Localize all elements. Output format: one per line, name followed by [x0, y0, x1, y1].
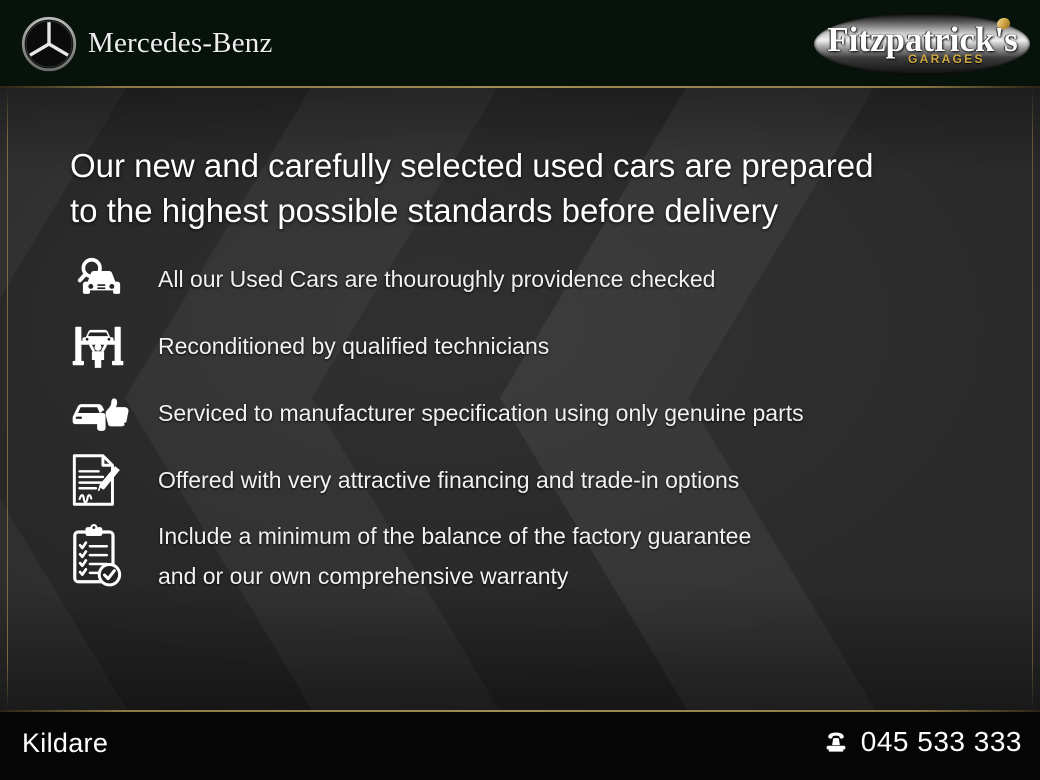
car-thumbs-up-icon	[66, 382, 158, 444]
dealer-logo[interactable]: Fitzpatrick's GARAGES	[812, 5, 1032, 81]
footer-contact[interactable]: 045 533 333	[823, 726, 1022, 758]
list-item-line-1: Serviced to manufacturer specification u…	[158, 400, 804, 426]
dealer-promo-slide: Mercedes-Benz Fitzpatrick's GARAGES Our …	[0, 0, 1040, 780]
car-magnifier-icon	[66, 248, 158, 310]
list-item-line-1: Reconditioned by qualified technicians	[158, 333, 549, 359]
list-item-label: Offered with very attractive financing a…	[158, 460, 739, 500]
list-item-line-1: Include a minimum of the balance of the …	[158, 523, 751, 549]
dealer-subtitle: GARAGES	[908, 52, 985, 66]
mercedes-star-icon	[21, 16, 77, 72]
list-item-label: Reconditioned by qualified technicians	[158, 326, 549, 366]
right-edge-accent	[1032, 88, 1033, 710]
clipboard-checklist-icon	[66, 525, 158, 587]
left-edge-accent	[7, 88, 8, 710]
headline-line-2: to the highest possible standards before…	[70, 188, 970, 233]
list-item-line-1: All our Used Cars are thouroughly provid…	[158, 266, 715, 292]
footer-location: Kildare	[22, 728, 108, 759]
list-item-label: Include a minimum of the balance of the …	[158, 516, 751, 596]
footer-phone-number: 045 533 333	[861, 726, 1022, 758]
document-signature-icon	[66, 449, 158, 511]
list-item-line-2: and or our own comprehensive warranty	[158, 556, 751, 596]
main-content: Our new and carefully selected used cars…	[0, 88, 1040, 710]
footer-bar: Kildare 045 533 333	[0, 712, 1040, 780]
list-item: Include a minimum of the balance of the …	[66, 516, 1016, 596]
telephone-icon	[823, 729, 849, 755]
list-item: Reconditioned by qualified technicians	[66, 315, 1016, 377]
header-divider	[0, 86, 1040, 88]
brand-name: Mercedes-Benz	[88, 27, 273, 60]
list-item: Offered with very attractive financing a…	[66, 449, 1016, 511]
car-lift-mechanic-icon	[66, 315, 158, 377]
headline-line-1: Our new and carefully selected used cars…	[70, 143, 970, 188]
list-item-label: Serviced to manufacturer specification u…	[158, 393, 804, 433]
list-item-line-1: Offered with very attractive financing a…	[158, 467, 739, 493]
list-item: Serviced to manufacturer specification u…	[66, 382, 1016, 444]
headline: Our new and carefully selected used cars…	[70, 143, 970, 233]
header-bar: Mercedes-Benz Fitzpatrick's GARAGES	[0, 0, 1040, 86]
list-item: All our Used Cars are thouroughly provid…	[66, 248, 1016, 310]
benefits-list: All our Used Cars are thouroughly provid…	[66, 248, 1016, 601]
list-item-label: All our Used Cars are thouroughly provid…	[158, 259, 715, 299]
footer-divider	[0, 710, 1040, 712]
